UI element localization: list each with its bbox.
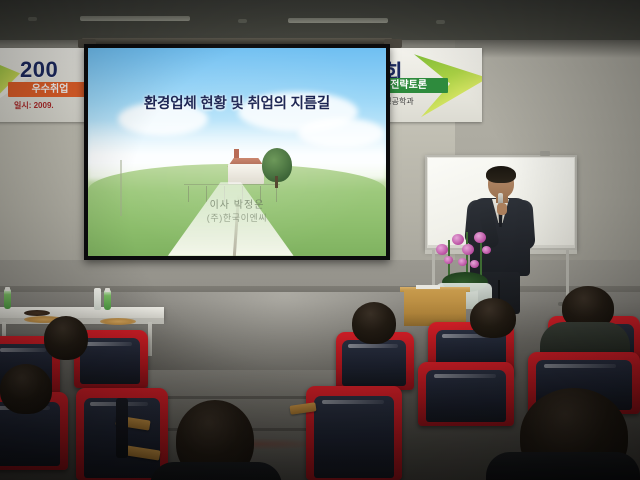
seat-highlight [0, 348, 46, 352]
orchid-flower [458, 258, 467, 266]
slide-presenter-text: 이사 박정운 [88, 196, 386, 211]
seat-highlight [322, 400, 384, 404]
podium-papers [416, 285, 440, 289]
podium [404, 290, 466, 326]
ceiling-vent [28, 17, 37, 21]
seat-highlight [434, 374, 496, 378]
audience-shoulders [150, 462, 282, 480]
snack-plate [100, 318, 136, 325]
ceiling-vent [238, 19, 247, 23]
slide-cloud [298, 118, 384, 148]
slide-house [228, 164, 264, 184]
orchid-flower [436, 244, 448, 255]
seat-highlight [544, 364, 616, 368]
whiteboard-clip [540, 151, 550, 156]
orchid-flower [470, 260, 479, 268]
green-drink-bottle [4, 289, 11, 309]
speaker-hair [486, 166, 516, 183]
ceiling-light-fixture [288, 18, 388, 23]
orchid-flower [474, 232, 486, 243]
projected-slide: 환경업체 현황 및 취업의 지름길 이사 박정운 (주)한국이엔씨 [88, 48, 386, 256]
audience-shoulders [486, 452, 640, 480]
photo-scene: 200 우수취업 일시: 2009. 수회 강전략토론 학교 환경공학과 [0, 0, 640, 480]
bottle-cap [105, 288, 110, 292]
projection-screen: 환경업체 현황 및 취업의 지름길 이사 박정운 (주)한국이엔씨 [84, 44, 390, 260]
orchid-stem [480, 238, 482, 278]
audience-head [352, 302, 396, 344]
ceiling-vent [436, 20, 445, 24]
seat-highlight [86, 342, 132, 346]
slide-tree-trunk [275, 176, 278, 188]
orchid-flower [444, 256, 453, 264]
banner-badge-orange: 우수취업 [8, 82, 92, 97]
audience-head [470, 298, 516, 338]
slide-title-text: 환경업체 현황 및 취업의 지름길 [88, 92, 386, 113]
green-drink-bottle [104, 290, 111, 310]
white-drink-bottle [94, 288, 101, 310]
audience-head [44, 316, 88, 360]
slide-company-text: (주)한국이엔씨 [88, 211, 386, 224]
seat-backrest-pad [314, 396, 394, 478]
seat-side-panel [116, 398, 128, 458]
orchid-flower [482, 246, 491, 254]
ceiling-light-fixture [80, 16, 190, 21]
banner-date-text: 일시: 2009. [14, 100, 54, 111]
table-leg [148, 322, 152, 356]
audience-head [0, 364, 52, 414]
seat-highlight [348, 344, 398, 348]
bottle-cap [5, 287, 10, 291]
orchid-flower [452, 234, 464, 245]
speaker-hand [497, 203, 507, 215]
orchid-flower [462, 244, 474, 255]
banner-year-text: 200 [20, 57, 58, 83]
